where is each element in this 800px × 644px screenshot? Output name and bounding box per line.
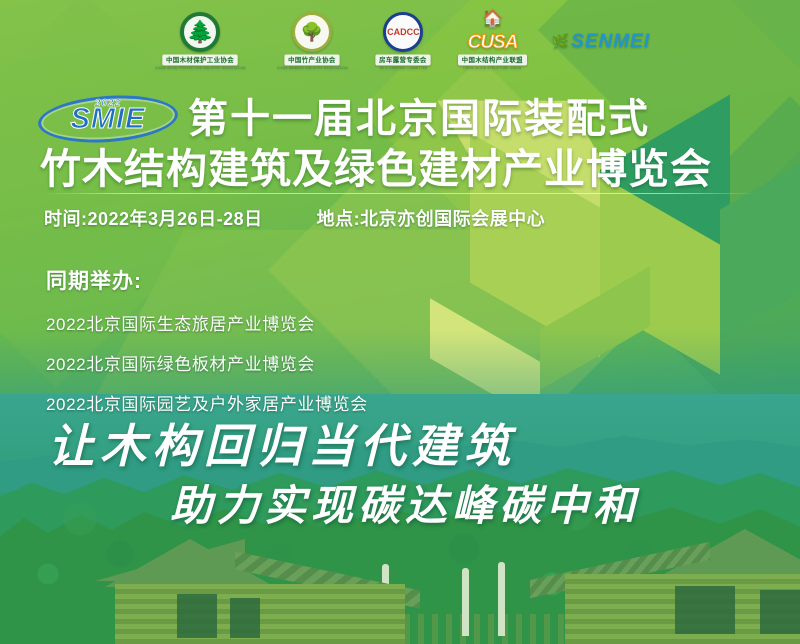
slogan-line-2: 助力实现碳达峰碳中和 [0,480,800,533]
logo-abbr: SENMEI [571,32,650,51]
logo-cwpia: 🌲 中国木材保护工业协会 CHINA WOOD PROTECTION INDUS… [150,12,251,70]
smie-brand-logo: 2022 SMIE [38,96,178,142]
concurrent-item: 2022北京国际生态旅居产业博览会 [46,310,368,335]
logo-abbr: CUSA [468,33,518,52]
organizer-logo-row: 🌲 中国木材保护工业协会 CHINA WOOD PROTECTION INDUS… [0,12,800,70]
concurrent-events: 同期举办: 2022北京国际生态旅居产业博览会 2022北京国际绿色板材产业博览… [46,265,368,415]
house-roof-icon: 🏠 CUSA [462,12,524,52]
logo-en-label: RV & CAMPING COMMITTEE [379,66,427,70]
logo-cn-label: 中国竹产业协会 [285,54,340,65]
logo-en-label: CHINA WOOD STRUCTURE UNION [464,66,522,70]
logo-senmei: 🌿 SENMEI [552,21,650,61]
slogan-block: 让木构回归当代建筑 助力实现碳达峰碳中和 [0,418,800,532]
leaf-glyph-icon: 🌿 [552,33,569,50]
event-date: 时间:2022年3月26日-28日 [44,205,263,231]
logo-abbr: CADCC [387,27,420,37]
page-title-line-1: 第十一届北京国际装配式 [188,99,650,139]
exhibition-poster: 🌲 中国木材保护工业协会 CHINA WOOD PROTECTION INDUS… [0,0,800,644]
title-row-1: 2022 SMIE 第十一届北京国际装配式 [26,96,774,142]
event-venue: 地点:北京亦创国际会展中心 [317,205,546,231]
logo-cn-label: 中国木材保护工业协会 [163,54,238,65]
house-glyph-icon: 🏠 [482,9,503,29]
logo-en-label: CHINA WOOD PROTECTION INDUSTRY ASSOCIATI… [155,66,246,70]
header-divider [42,193,758,194]
logo-cn-label: 房车露营专委会 [376,54,431,65]
poster-content: 🌲 中国木材保护工业协会 CHINA WOOD PROTECTION INDUS… [0,0,800,644]
concurrent-heading: 同期举办: [46,265,368,295]
logo-bamboo: 🌳 中国竹产业协会 CHINA BAMBOO INDUSTRY ASSOCIAT… [273,12,352,70]
bamboo-emblem-icon: 🌳 [292,12,332,52]
leaf-sprout-icon: 🌿 SENMEI [552,21,650,61]
page-title-line-2: 竹木结构建筑及绿色建材产业博览会 [26,146,774,193]
logo-cadcc: CADCC 房车露营专委会 RV & CAMPING COMMITTEE [373,12,433,70]
smie-wordmark: SMIE [38,105,178,134]
concurrent-item: 2022北京国际绿色板材产业博览会 [46,350,368,375]
event-meta: 时间:2022年3月26日-28日 地点:北京亦创国际会展中心 [44,205,545,231]
title-block: 2022 SMIE 第十一届北京国际装配式 竹木结构建筑及绿色建材产业博览会 [0,96,800,193]
logo-cusa: 🏠 CUSA 中国木结构产业联盟 CHINA WOOD STRUCTURE UN… [455,12,530,70]
pine-tree-emblem-icon: 🌲 [180,12,220,52]
slogan-line-1: 让木构回归当代建筑 [0,418,800,476]
logo-cn-label: 中国木结构产业联盟 [458,54,527,65]
concurrent-item: 2022北京国际园艺及户外家居产业博览会 [46,390,368,415]
logo-en-label: CHINA BAMBOO INDUSTRY ASSOCIATION [277,66,348,70]
cadcc-roundel-icon: CADCC [383,12,423,52]
